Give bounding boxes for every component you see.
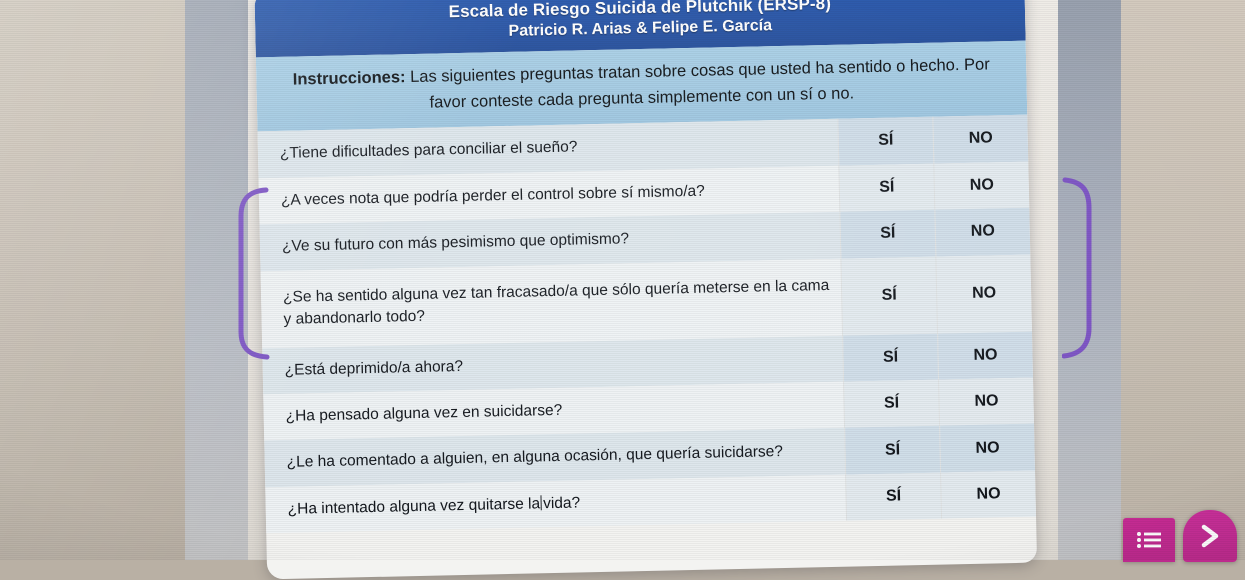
- question-text: ¿Se ha sentido alguna vez tan fracasado/…: [261, 258, 843, 348]
- answer-no-cell[interactable]: NO: [933, 115, 1028, 164]
- answer-yes-cell[interactable]: SÍ: [838, 117, 934, 166]
- survey-card-container: Escala de Riesgo Suicida de Plutchik (ER…: [254, 0, 1036, 552]
- answer-yes-cell[interactable]: SÍ: [839, 163, 935, 212]
- answer-no-cell[interactable]: NO: [939, 378, 1034, 427]
- answer-no-cell[interactable]: NO: [940, 424, 1035, 473]
- survey-card: Escala de Riesgo Suicida de Plutchik (ER…: [254, 0, 1037, 580]
- background-left-panel: [0, 0, 190, 560]
- background-left-blue-strip: [185, 0, 255, 560]
- bottom-controls: [1123, 510, 1237, 562]
- answer-no-cell[interactable]: NO: [935, 208, 1030, 257]
- instructions-text: Las siguientes preguntas tratan sobre co…: [405, 55, 990, 111]
- chevron-right-icon: [1198, 523, 1222, 549]
- question-text-before-caret: ¿Ha intentado alguna vez quitarse la: [288, 495, 541, 518]
- background-right-blue-strip: [1055, 0, 1121, 560]
- answer-yes-cell[interactable]: SÍ: [844, 380, 940, 429]
- question-text-after-caret: vida?: [543, 494, 580, 512]
- answer-yes-cell[interactable]: SÍ: [841, 256, 938, 335]
- answer-yes-cell[interactable]: SÍ: [846, 473, 942, 522]
- questions-table: ¿Tiene dificultades para conciliar el su…: [257, 115, 1036, 534]
- answer-yes-cell[interactable]: SÍ: [840, 210, 936, 259]
- answer-yes-cell[interactable]: SÍ: [845, 426, 941, 475]
- list-icon: [1136, 530, 1162, 550]
- answer-no-cell[interactable]: NO: [936, 254, 1032, 333]
- answer-no-cell[interactable]: NO: [938, 331, 1033, 380]
- instructions-label: Instrucciones:: [293, 68, 406, 88]
- next-button[interactable]: [1183, 510, 1237, 562]
- answer-no-cell[interactable]: NO: [934, 161, 1029, 210]
- background-right-panel: [1118, 0, 1245, 560]
- list-view-button[interactable]: [1123, 518, 1175, 562]
- answer-no-cell[interactable]: NO: [941, 470, 1036, 519]
- answer-yes-cell[interactable]: SÍ: [843, 333, 939, 382]
